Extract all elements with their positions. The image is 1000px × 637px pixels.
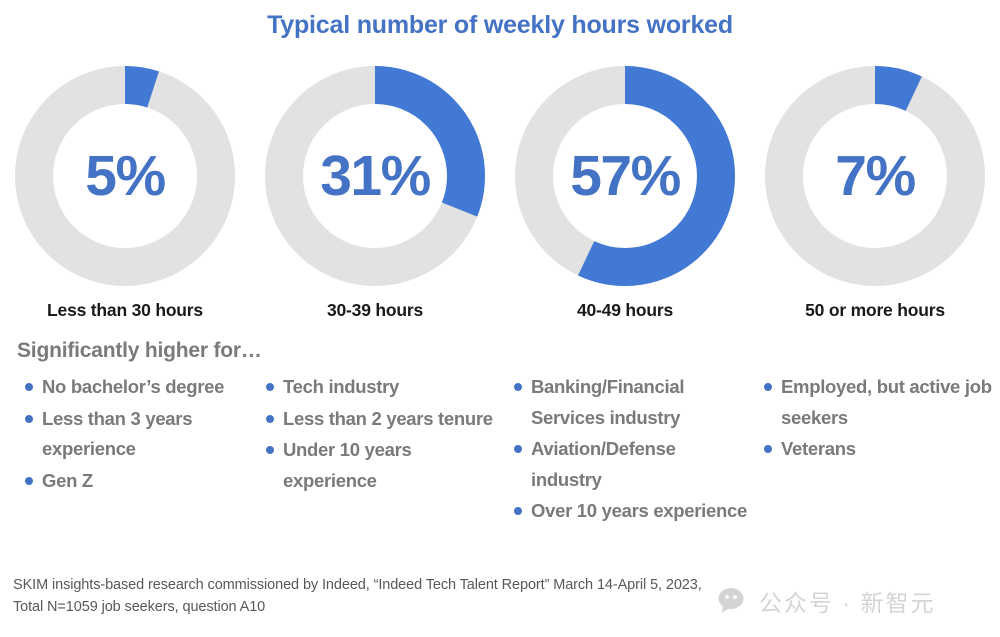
bullet-column-1: No bachelor’s degree Less than 3 years e… [0,372,250,528]
category-label-40-49-hours: 40-49 hours [500,300,750,321]
list-item: Under 10 years experience [266,435,499,496]
list-item-label: Under 10 years experience [283,439,411,491]
wechat-icon [718,586,752,616]
category-label-30-39-hours: 30-39 hours [250,300,500,321]
bullet-dot-icon [25,415,33,423]
donut-center-value: 5% [11,62,239,290]
footnote-line-2: Total N=1059 job seekers, question A10 [13,596,702,618]
donut-chart-50-or-more-hours: 7% [761,62,989,290]
donut-chart-less-than-30-hours: 5% [11,62,239,290]
list-item-label: Veterans [781,438,856,459]
donut-chart-40-49-hours: 57% [511,62,739,290]
bullet-dot-icon [764,445,772,453]
category-label-row: Less than 30 hours 30-39 hours 40-49 hou… [0,300,1000,321]
donut-center-value: 7% [761,62,989,290]
list-item-label: Over 10 years experience [531,500,747,521]
donut-cell-1: 5% [0,62,250,300]
category-label-50-or-more-hours: 50 or more hours [750,300,1000,321]
bullet-column-4: Employed, but active job seekers Veteran… [750,372,1000,528]
list-item-label: Banking/Financial Services industry [531,376,684,428]
infographic-page: Typical number of weekly hours worked 5%… [0,0,1000,637]
footnote: SKIM insights-based research commissione… [13,574,702,618]
list-item: Over 10 years experience [514,496,747,527]
bullet-dot-icon [266,383,274,391]
bullet-column-2: Tech industry Less than 2 years tenure U… [250,372,500,528]
list-item-label: Less than 2 years tenure [283,408,493,429]
donut-center-value: 31% [261,62,489,290]
donut-cell-4: 7% [750,62,1000,300]
donut-cell-2: 31% [250,62,500,300]
list-item: Gen Z [25,466,250,497]
list-item: Less than 3 years experience [25,404,250,465]
donut-chart-30-39-hours: 31% [261,62,489,290]
donut-chart-row: 5% 31% 57% [0,62,1000,300]
donut-cell-3: 57% [500,62,750,300]
list-item: Aviation/Defense industry [514,434,747,495]
list-item: Tech industry [266,372,499,403]
bullet-dot-icon [25,477,33,485]
bullet-dot-icon [266,446,274,454]
list-item: Banking/Financial Services industry [514,372,747,433]
bullet-dot-icon [514,507,522,515]
list-item-label: Tech industry [283,376,399,397]
footnote-line-1: SKIM insights-based research commissione… [13,574,702,596]
donut-center-value: 57% [511,62,739,290]
category-label-less-than-30-hours: Less than 30 hours [0,300,250,321]
significantly-higher-columns: No bachelor’s degree Less than 3 years e… [0,372,1000,528]
significantly-higher-heading: Significantly higher for… [17,339,262,363]
list-item-label: Gen Z [42,470,93,491]
bullet-dot-icon [266,415,274,423]
list-item-label: No bachelor’s degree [42,376,224,397]
bullet-column-3: Banking/Financial Services industry Avia… [500,372,750,528]
list-item-label: Less than 3 years experience [42,408,192,460]
bullet-dot-icon [764,383,772,391]
bullet-dot-icon [25,383,33,391]
bullet-dot-icon [514,445,522,453]
page-title: Typical number of weekly hours worked [0,11,1000,40]
list-item-label: Aviation/Defense industry [531,438,676,490]
list-item: Employed, but active job seekers [764,372,997,433]
list-item-label: Employed, but active job seekers [781,376,992,428]
watermark-text: 公众号 · 新智元 [759,584,935,618]
list-item: Veterans [764,434,997,465]
list-item: No bachelor’s degree [25,372,250,403]
watermark: 公众号 · 新智元 [718,584,935,618]
bullet-dot-icon [514,383,522,391]
list-item: Less than 2 years tenure [266,404,499,435]
